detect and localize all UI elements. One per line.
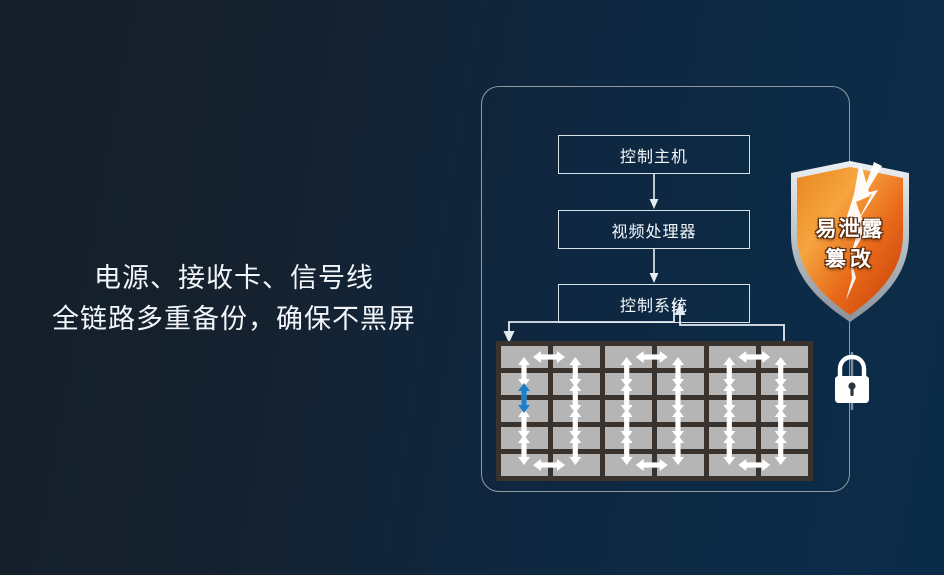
led-tile [501,400,548,422]
led-tile [761,454,808,476]
warning-shield-badge [786,160,914,325]
slide-canvas: 电源、接收卡、信号线 全链路多重备份，确保不黑屏 控制主机 视频处理器 控制系统 [0,0,944,575]
led-tile [761,427,808,449]
flow-box-video-processor: 视频处理器 [558,210,750,249]
lock-icon [829,352,875,410]
connector-up-from-panel-icon [675,303,785,341]
led-tile [709,400,756,422]
headline-line-2: 全链路多重备份，确保不黑屏 [0,299,468,340]
led-tile [657,400,704,422]
led-tile [709,427,756,449]
flow-box-control-host-label: 控制主机 [620,143,688,167]
led-display-panel [496,341,813,481]
led-tile [761,373,808,395]
led-tile [501,346,548,368]
led-tile [553,346,600,368]
arrow-processor-to-control-icon [647,249,661,284]
led-tile [501,427,548,449]
led-tile [501,373,548,395]
led-tile [657,427,704,449]
led-tile [709,373,756,395]
led-tile-grid [501,346,808,476]
connector-down-to-panel-icon [504,302,675,343]
led-tile [605,454,652,476]
led-tile [709,346,756,368]
led-tile [605,346,652,368]
shield-body [797,167,903,315]
led-tile [605,400,652,422]
headline-text: 电源、接收卡、信号线 全链路多重备份，确保不黑屏 [0,258,468,340]
flow-box-video-processor-label: 视频处理器 [611,218,696,242]
led-tile [709,454,756,476]
arrow-host-to-processor-icon [647,174,661,210]
led-tile [605,373,652,395]
led-tile [605,427,652,449]
flow-box-control-host: 控制主机 [558,135,750,174]
led-tile [553,427,600,449]
led-tile [657,346,704,368]
headline-line-1: 电源、接收卡、信号线 [0,258,468,299]
led-tile [553,400,600,422]
led-tile [501,454,548,476]
led-tile [553,373,600,395]
led-tile [657,373,704,395]
led-tile [657,454,704,476]
led-tile [553,454,600,476]
led-tile [761,346,808,368]
led-tile [761,400,808,422]
